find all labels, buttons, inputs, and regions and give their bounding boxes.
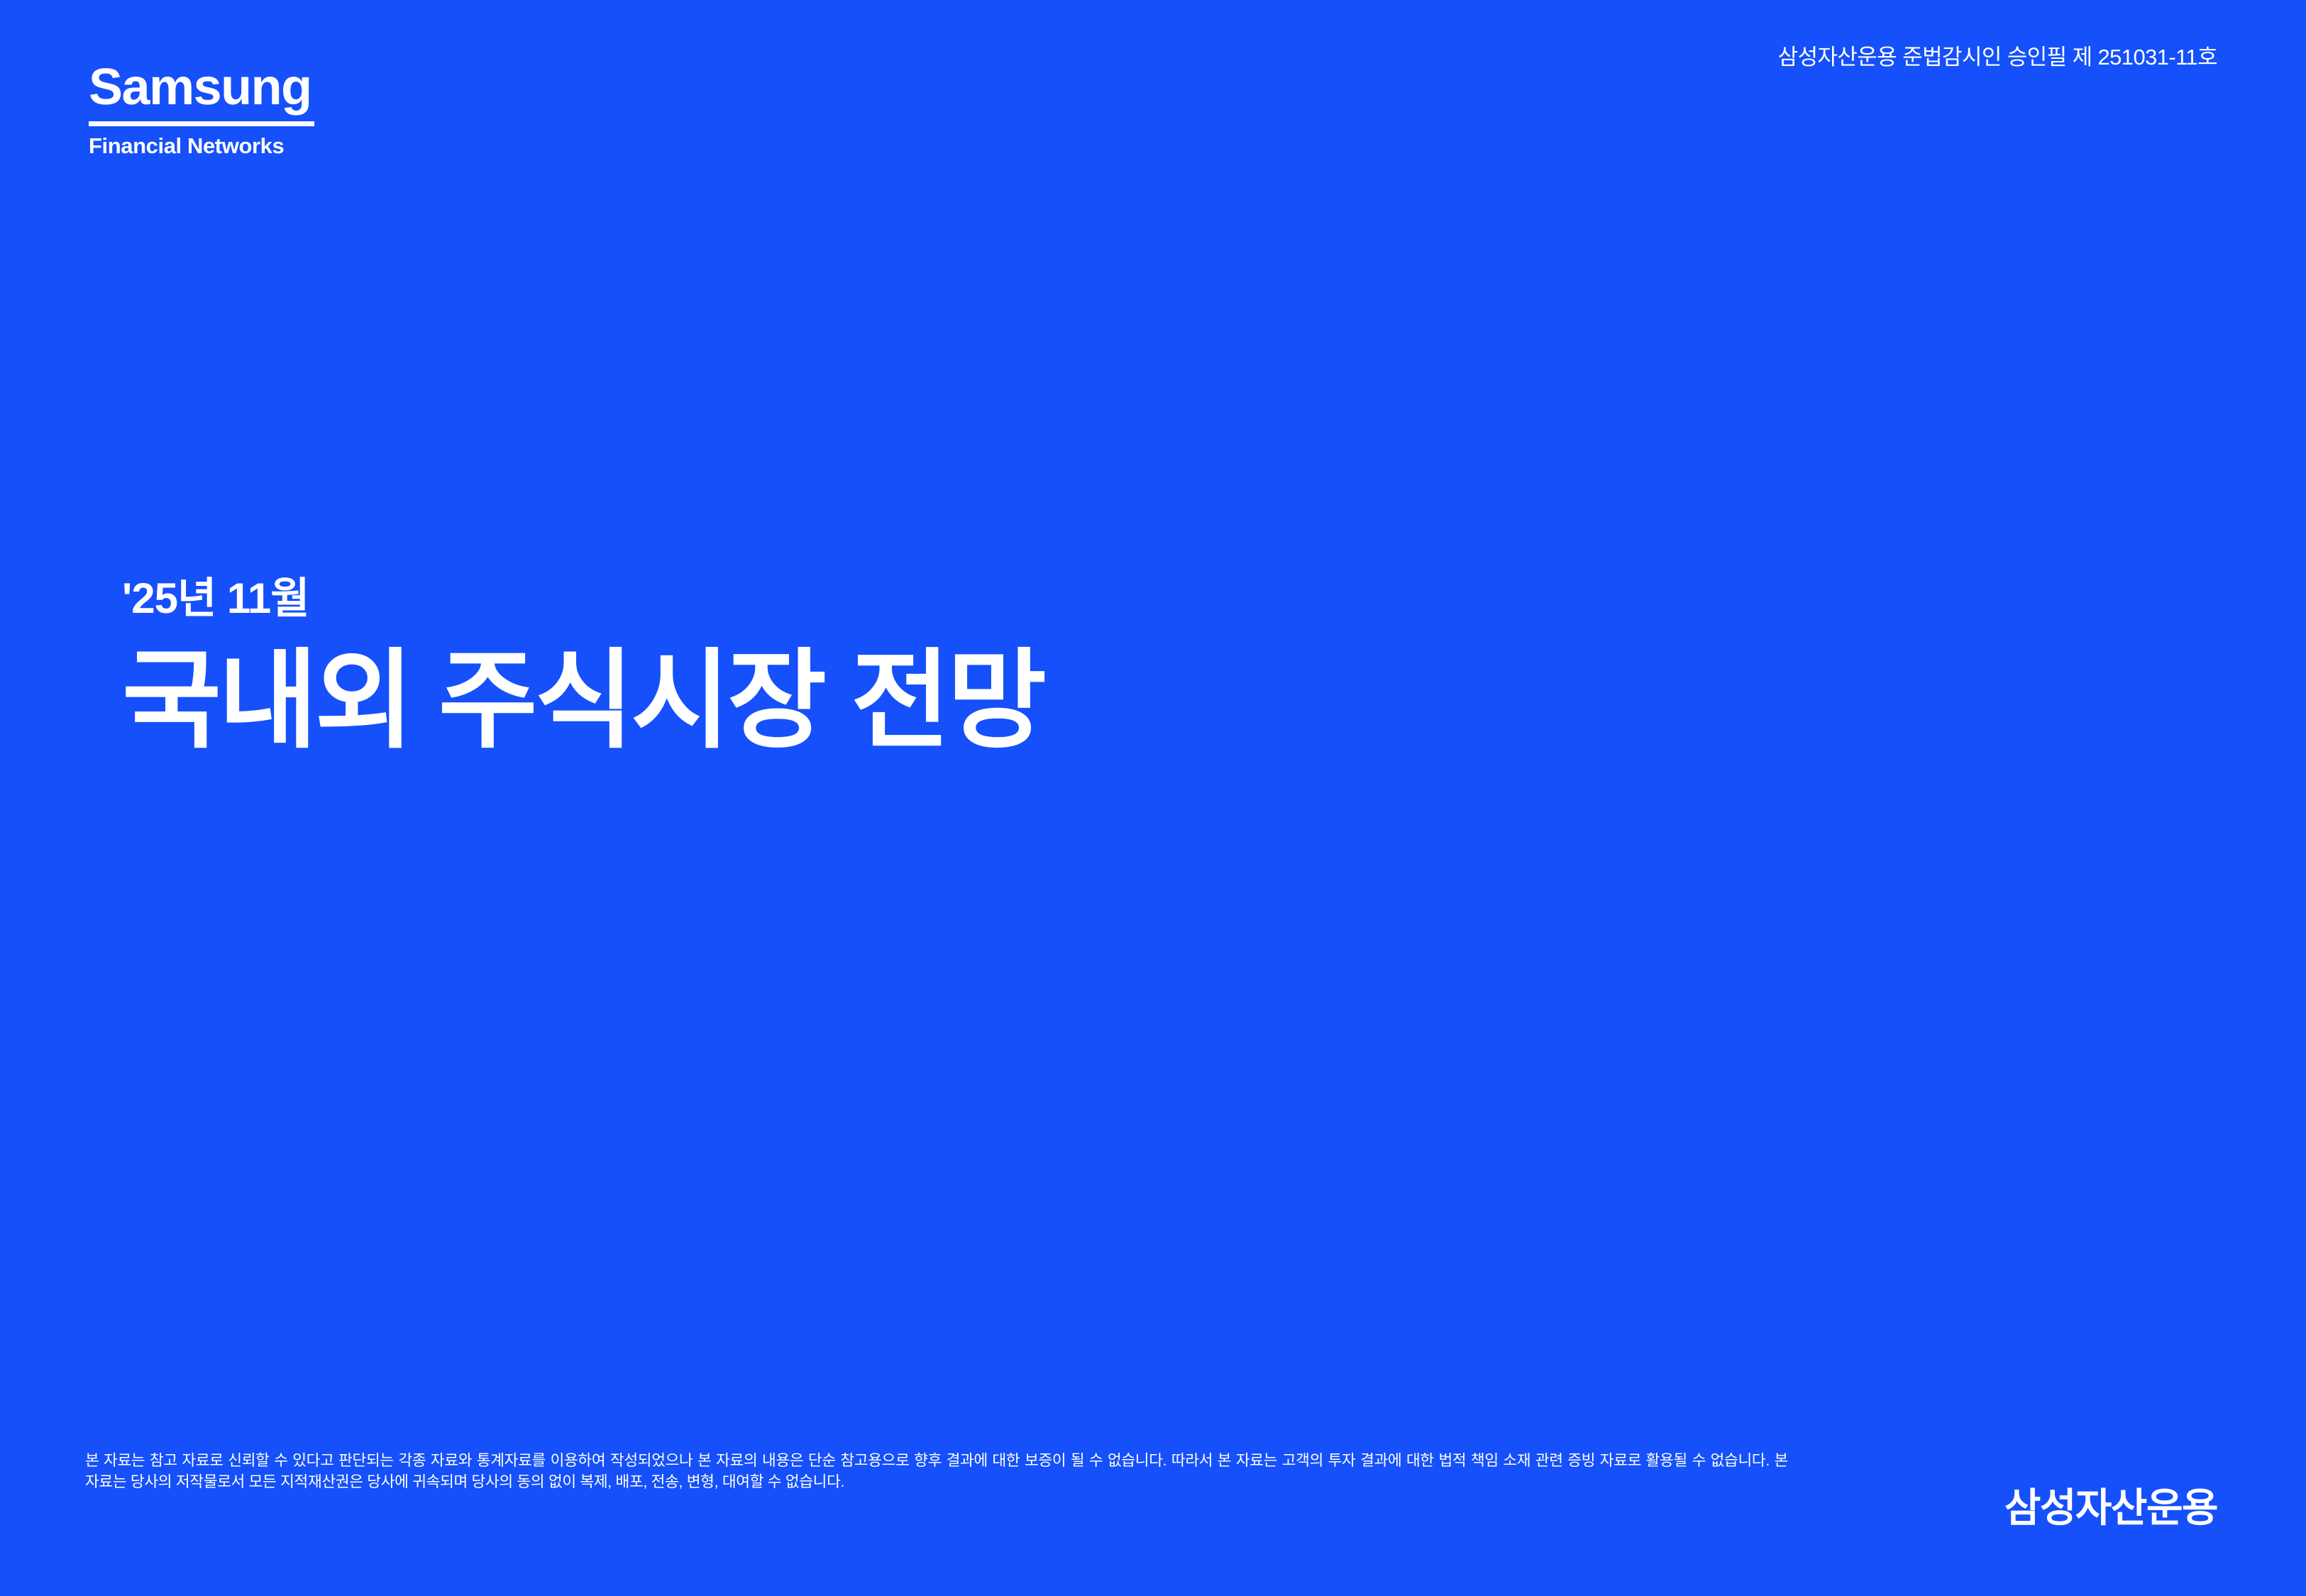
logo-divider-rule — [89, 121, 314, 126]
financial-networks-label: Financial Networks — [89, 135, 394, 157]
samsung-financial-networks-logo: Samsung Financial Networks — [89, 62, 394, 157]
cover-title-block: '25년 11월 국내외 주식시장 전망 — [122, 576, 1825, 756]
samsung-wordmark: Samsung — [89, 62, 394, 113]
samsung-asset-management-logo: 삼성자산운용 — [2004, 1488, 2217, 1528]
legal-disclaimer-text: 본 자료는 참고 자료로 신뢰할 수 있다고 판단되는 각종 자료와 통계자료를… — [85, 1450, 1788, 1492]
issue-date-label: '25년 11월 — [122, 576, 1825, 621]
compliance-approval-text: 삼성자산운용 준법감시인 승인필 제 251031-11호 — [1778, 44, 2217, 72]
presentation-cover-slide: Samsung Financial Networks 삼성자산운용 준법감시인 … — [0, 0, 2306, 1596]
page-title: 국내외 주식시장 전망 — [122, 646, 1825, 756]
